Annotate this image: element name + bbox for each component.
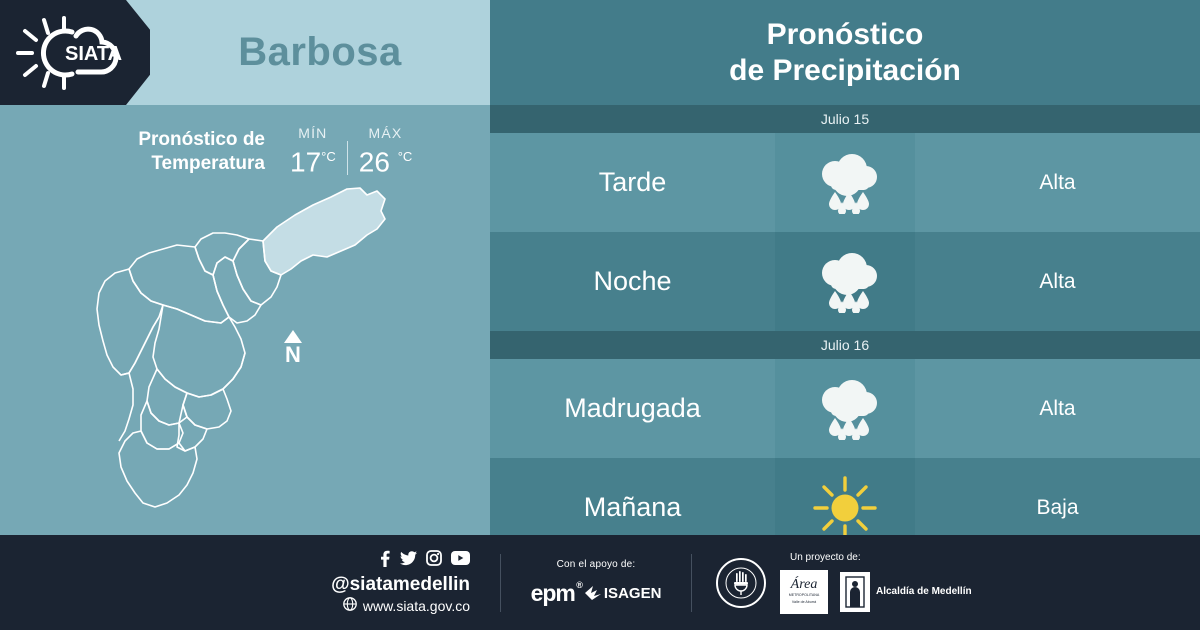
- area-sub1: METROPOLITANA: [789, 593, 819, 597]
- temperature-title-line1: Pronóstico de: [70, 128, 265, 152]
- temperature-min: MÍN 17°C: [279, 124, 347, 177]
- alcaldia-label: Alcaldía de Medellín: [876, 586, 972, 597]
- min-value-wrap: 17°C: [290, 142, 336, 177]
- project-caption: Un proyecto de:: [790, 552, 861, 563]
- twitter-icon[interactable]: [400, 551, 417, 571]
- city-title: Barbosa: [150, 0, 490, 105]
- date-band: Julio 15: [490, 105, 1200, 133]
- support-caption: Con el apoyo de:: [557, 559, 636, 570]
- left-panel: SIATA Barbosa Pronóstico de Temperatura …: [0, 0, 490, 535]
- period-label: Madrugada: [490, 359, 775, 458]
- left-header: SIATA Barbosa: [0, 0, 490, 105]
- precipitation-header: Pronóstico de Precipitación: [490, 0, 1200, 105]
- min-unit: °C: [321, 149, 336, 164]
- svg-text:SIATA: SIATA: [65, 43, 122, 65]
- isagen-logo: ISAGEN: [585, 585, 662, 602]
- precipitation-title-line1: Pronóstico: [767, 17, 924, 53]
- footer: @siatamedellin www.siata.gov.co Con el a…: [0, 535, 1200, 630]
- project-block: Un proyecto de: Área METROPOLITANA Valle…: [692, 552, 1200, 614]
- max-unit: °C: [398, 149, 413, 164]
- area-sub2: Valle de Aburrá: [792, 600, 816, 604]
- social-handle[interactable]: @siatamedellin: [331, 574, 470, 596]
- support-block: Con el apoyo de: epm® ISAGEN: [501, 559, 691, 607]
- social-icons: [378, 550, 470, 572]
- website-text: www.siata.gov.co: [363, 596, 470, 616]
- globe-icon: [343, 596, 357, 616]
- right-panel: Pronóstico de Precipitación Julio 15 Tar…: [490, 0, 1200, 535]
- social-block: @siatamedellin www.siata.gov.co: [0, 550, 500, 616]
- rain-cloud-icon: [775, 133, 915, 232]
- date-band: Julio 16: [490, 331, 1200, 359]
- temperature-title: Pronóstico de Temperatura: [70, 124, 265, 176]
- sun-cloud-icon: SIATA: [14, 16, 134, 90]
- min-value: 17: [290, 146, 321, 177]
- universidad-de-medellin-seal: [716, 558, 766, 608]
- table-row: Tarde: [490, 133, 1200, 232]
- north-arrow-icon: N: [277, 330, 309, 376]
- weather-forecast-infographic: SIATA Barbosa Pronóstico de Temperatura …: [0, 0, 1200, 630]
- period-label: Tarde: [490, 133, 775, 232]
- aburra-valley-map: [55, 175, 455, 525]
- forecast-table: Julio 15 Tarde: [490, 105, 1200, 557]
- precipitation-title-line2: de Precipitación: [729, 53, 961, 89]
- table-row: Noche: [490, 232, 1200, 331]
- alcaldia-crest-icon: [840, 572, 870, 612]
- project-logos: Área METROPOLITANA Valle de Aburrá: [780, 570, 972, 614]
- max-value-wrap: 26 °C: [359, 142, 413, 177]
- project-logos-col: Un proyecto de: Área METROPOLITANA Valle…: [780, 552, 972, 614]
- area-signature: Área: [791, 579, 818, 591]
- rain-cloud-icon: [775, 359, 915, 458]
- max-label: MÁX: [359, 124, 413, 142]
- period-label: Noche: [490, 232, 775, 331]
- website-link[interactable]: www.siata.gov.co: [343, 596, 470, 616]
- rain-cloud-icon: [775, 232, 915, 331]
- temperature-title-line2: Temperatura: [70, 152, 265, 176]
- temperature-forecast: Pronóstico de Temperatura MÍN 17°C MÁX 2…: [70, 124, 450, 182]
- min-label: MÍN: [290, 124, 336, 142]
- temperature-values: MÍN 17°C MÁX 26 °C: [279, 124, 423, 177]
- area-metropolitana-logo: Área METROPOLITANA Valle de Aburrá: [780, 570, 828, 614]
- facebook-icon[interactable]: [378, 550, 391, 572]
- table-row: Madrugada: [490, 359, 1200, 458]
- temperature-max: MÁX 26 °C: [348, 124, 424, 177]
- instagram-icon[interactable]: [426, 550, 442, 571]
- epm-logo: epm®: [531, 580, 575, 607]
- youtube-icon[interactable]: [451, 551, 470, 570]
- precipitation-level: Alta: [915, 232, 1200, 331]
- alcaldia-logo: Alcaldía de Medellín: [840, 572, 972, 612]
- max-value: 26: [359, 146, 390, 177]
- precipitation-level: Alta: [915, 133, 1200, 232]
- support-logos: epm® ISAGEN: [531, 580, 662, 607]
- precipitation-level: Alta: [915, 359, 1200, 458]
- north-label: N: [285, 344, 301, 366]
